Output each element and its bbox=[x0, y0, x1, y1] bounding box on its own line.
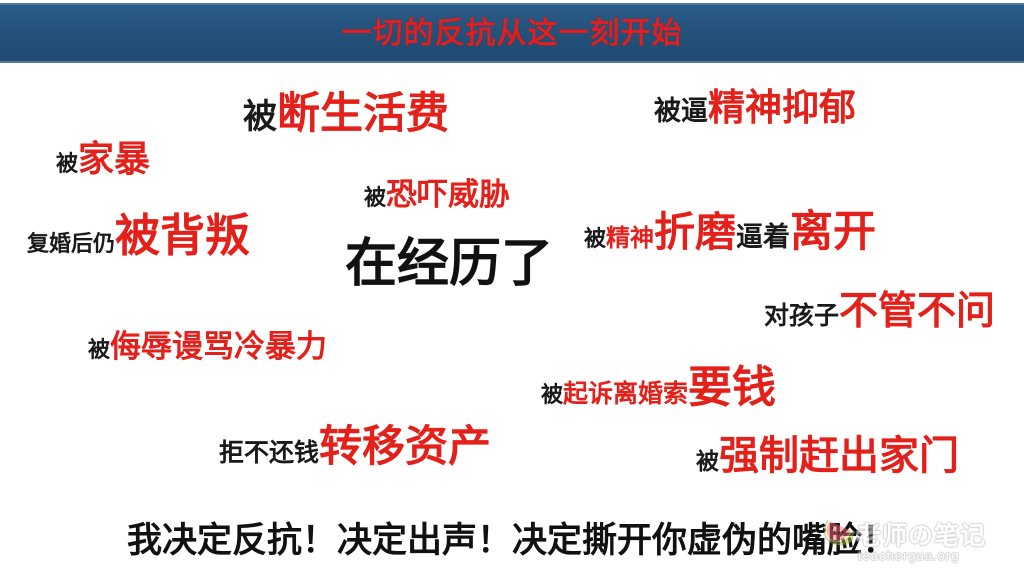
slide-canvas: 一切的反抗从这一刻开始 在经历了 被断生活费 被逼精神抑郁 被家暴 被恐吓威胁 … bbox=[0, 0, 1024, 576]
cloud-phrase-bei-qiangzhi-ganchu-jiamen: 被强制赶出家门 bbox=[696, 436, 959, 476]
cloud-segment: 强制赶出家门 bbox=[719, 436, 959, 476]
cloud-segment: 起诉离婚索 bbox=[563, 382, 688, 407]
cloud-segment: 不管不问 bbox=[839, 292, 995, 331]
bottom-slogan: 我决定反抗！决定出声！决定撕开你虚伪的嘴脸！ bbox=[0, 523, 1024, 558]
cloud-segment: 家暴 bbox=[78, 141, 150, 177]
cloud-segment: 被 bbox=[56, 153, 78, 175]
cloud-phrase-bei-jiabao: 被家暴 bbox=[56, 141, 150, 177]
word-cloud: 在经历了 被断生活费 被逼精神抑郁 被家暴 被恐吓威胁 复婚后仍被背叛 被精神折… bbox=[0, 63, 1024, 503]
header-title: 一切的反抗从这一刻开始 bbox=[342, 19, 683, 49]
center-phrase: 在经历了 bbox=[345, 238, 553, 290]
cloud-segment: 对孩子 bbox=[764, 304, 839, 329]
cloud-phrase-beibi-jingshen-yiyu: 被逼精神抑郁 bbox=[654, 89, 856, 126]
cloud-phrase-fuhunhouring-beibeipan: 复婚后仍被背叛 bbox=[27, 213, 250, 258]
cloud-segment: 恐吓威胁 bbox=[386, 179, 510, 210]
cloud-phrase-bei-qisu-lihun-suo-yaoqian: 被起诉离婚索要钱 bbox=[541, 366, 776, 410]
cloud-segment: 折磨 bbox=[654, 212, 736, 253]
cloud-segment: 转移资产 bbox=[319, 426, 491, 469]
cloud-phrase-bei-wuru-manma-lengbaoli: 被侮辱谩骂冷暴力 bbox=[88, 331, 327, 362]
header-banner: 一切的反抗从这一刻开始 bbox=[0, 3, 1024, 63]
cloud-segment: 离开 bbox=[790, 211, 876, 254]
cloud-segment: 复婚后仍 bbox=[27, 233, 115, 255]
cloud-segment: 侮辱谩骂冷暴力 bbox=[110, 331, 327, 362]
cloud-segment: 被 bbox=[696, 450, 719, 473]
cloud-segment: 被逼 bbox=[654, 98, 708, 125]
cloud-segment: 逼着 bbox=[736, 224, 790, 251]
cloud-segment: 被 bbox=[364, 187, 386, 209]
cloud-phrase-bei-konghe-weixie: 被恐吓威胁 bbox=[364, 179, 510, 210]
cloud-phrase-jubuhuanqian-zhuanyi-zichan: 拒不还钱转移资产 bbox=[219, 426, 491, 469]
cloud-segment: 被 bbox=[541, 384, 563, 406]
cloud-phrase-duihaizi-buguanbuwen: 对孩子不管不问 bbox=[764, 292, 995, 331]
cloud-segment: 要钱 bbox=[688, 366, 776, 410]
cloud-segment: 被 bbox=[243, 100, 277, 134]
cloud-segment: 被背叛 bbox=[115, 213, 250, 258]
cloud-segment: 精神抑郁 bbox=[708, 89, 856, 126]
cloud-segment: 拒不还钱 bbox=[219, 441, 319, 466]
cloud-segment: 精神 bbox=[606, 227, 654, 251]
cloud-phrase-bei-jingshen-zhemo-bizhe-likai: 被精神折磨逼着离开 bbox=[584, 211, 876, 254]
cloud-phrase-beiduan-shenghuofei: 被断生活费 bbox=[243, 93, 449, 136]
cloud-segment: 被 bbox=[88, 339, 110, 361]
cloud-segment: 被 bbox=[584, 228, 606, 250]
cloud-segment: 断生活费 bbox=[277, 93, 449, 136]
